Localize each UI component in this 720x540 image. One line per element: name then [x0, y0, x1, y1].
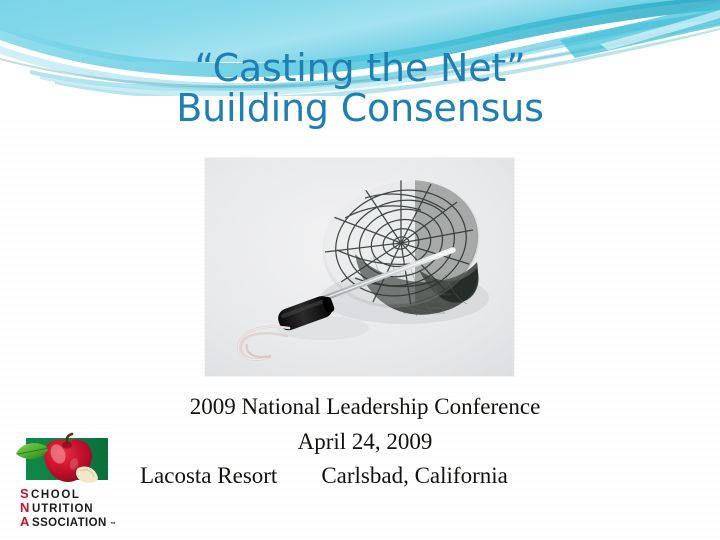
- fishing-net-photo: [205, 158, 514, 376]
- title-line-2: Building Consensus: [0, 88, 720, 128]
- caption-conference-name: 2009 National Leadership Conference: [130, 390, 600, 425]
- logo-initial-s: S: [20, 486, 29, 501]
- title-line-1: “Casting the Net”: [0, 48, 720, 88]
- logo-initial-n: N: [20, 500, 29, 515]
- presentation-slide: “Casting the Net” Building Consensus: [0, 0, 720, 540]
- caption-venue: Lacosta ResortCarlsbad, California: [130, 459, 600, 494]
- logo-initial-a: A: [20, 514, 30, 529]
- school-nutrition-association-logo: S CHOOL N UTRITION A SSOCIATION ™: [6, 432, 130, 532]
- logo-word-ssociation: SSOCIATION: [32, 517, 107, 529]
- logo-word-chool: CHOOL: [31, 489, 81, 501]
- logo-word-utrition: UTRITION: [32, 503, 94, 515]
- caption-venue-resort: Lacosta Resort: [140, 463, 277, 488]
- logo-trademark: ™: [110, 521, 116, 528]
- conference-caption: 2009 National Leadership Conference Apri…: [130, 390, 600, 494]
- caption-venue-city: Carlsbad, California: [321, 463, 508, 488]
- caption-date: April 24, 2009: [130, 425, 600, 460]
- slide-title: “Casting the Net” Building Consensus: [0, 48, 720, 129]
